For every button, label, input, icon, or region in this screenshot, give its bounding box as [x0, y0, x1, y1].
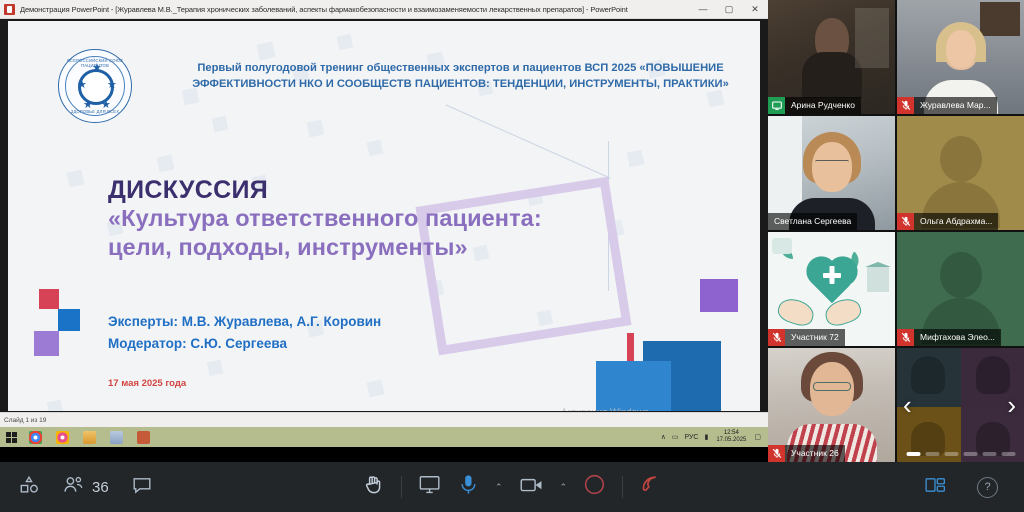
background-shelf: [855, 8, 889, 68]
participant-face: [812, 142, 852, 192]
building-icon: [867, 266, 889, 292]
grid-page-indicator[interactable]: [906, 452, 1015, 456]
slide-header-line-1: Первый полугодовой тренинг общественных …: [188, 61, 733, 77]
participants-button[interactable]: 36: [62, 474, 109, 501]
screen-share-icon: [768, 97, 785, 114]
clock-time: 12:54: [716, 430, 746, 438]
slide-people-block: Эксперты: М.В. Журавлева, А.Г. Коровин М…: [108, 311, 558, 354]
medical-cross-icon: [823, 273, 841, 278]
window-title: Демонстрация PowerPoint - [Журавлева М.В…: [20, 5, 690, 14]
app-icon[interactable]: [83, 431, 96, 444]
participant-namebar: Ольга Абдрахма...: [897, 213, 998, 230]
participant-face-front: [946, 30, 976, 68]
reactions-button[interactable]: [18, 474, 40, 501]
decor-chip: [47, 400, 64, 411]
participant-name: Ольга Абдрахма...: [914, 213, 998, 230]
layout-view-button[interactable]: [924, 475, 947, 500]
shared-screen-area: Демонстрация PowerPoint - [Журавлева М.В…: [0, 0, 768, 462]
avatar-head: [911, 422, 945, 456]
participant-tile[interactable]: Ольга Абдрахма...: [897, 116, 1024, 230]
app-icon-2[interactable]: [110, 431, 123, 444]
participant-name: Мифтахова Элео...: [914, 329, 1001, 346]
logo-star-icon: ★: [107, 80, 117, 91]
participant-namebar: Арина Рудченко: [768, 97, 861, 114]
decor-chip: [307, 120, 325, 138]
slide-date: 17 мая 2025 года: [108, 378, 186, 389]
meeting-control-bar: 36: [0, 462, 1024, 512]
chat-bubble-icon: [131, 474, 153, 501]
decor-square-purple: [34, 331, 59, 356]
close-button[interactable]: ✕: [742, 0, 768, 18]
decor-chip: [67, 170, 85, 188]
hangup-phone-icon: [639, 473, 662, 501]
slide-header-line-2: ЭФФЕКТИВНОСТИ НКО И СООБЩЕСТВ ПАЦИЕНТОВ:…: [188, 77, 733, 93]
volume-icon[interactable]: ▮: [704, 433, 708, 441]
page-dot[interactable]: [925, 452, 939, 456]
logo-star-icon: ★: [92, 63, 102, 74]
avatar-head: [976, 356, 1010, 394]
participant-name: Журавлева Мар...: [914, 97, 997, 114]
powerpoint-status-bar: Слайд 1 из 19: [0, 412, 768, 427]
meeting-screen: Демонстрация PowerPoint - [Журавлева М.В…: [0, 0, 1024, 512]
decor-chip: [207, 360, 224, 377]
slide-moderator: Модератор: С.Ю. Сергеева: [108, 333, 558, 355]
decor-line: [446, 104, 611, 178]
windows-activation-watermark: Активация Windows Чтобы активировать Win…: [561, 406, 760, 411]
mic-muted-icon: [897, 213, 914, 230]
participant-namebar: Участник 26: [768, 445, 845, 462]
avatar-head: [940, 252, 982, 298]
participant-shoulders: [802, 52, 862, 98]
decor-chip: [212, 116, 229, 133]
network-icon[interactable]: ▭: [672, 433, 679, 441]
decor-chip: [157, 155, 175, 173]
microphone-icon: [458, 473, 479, 501]
slide-title-sub-line2: цели, подходы, инструменты»: [108, 233, 578, 262]
share-screen-button[interactable]: [418, 473, 442, 501]
page-dot[interactable]: [963, 452, 977, 456]
organization-logo: ВСЕРОССИЙСКИЙ СОЮЗ ПАЦИЕНТОВ ★ ★ ★ ★ ★ З…: [58, 49, 132, 123]
background-object: [980, 2, 1020, 36]
decor-chip: [257, 42, 276, 61]
help-button[interactable]: ?: [977, 477, 998, 498]
watermark-line-1: Активация Windows: [561, 406, 760, 411]
decor-chip: [367, 380, 385, 398]
avatar-head: [911, 356, 945, 394]
card-icon: [772, 238, 792, 254]
clock-date: 17.05.2025: [716, 437, 746, 445]
slide-frame: ВСЕРОССИЙСКИЙ СОЮЗ ПАЦИЕНТОВ ★ ★ ★ ★ ★ З…: [0, 19, 768, 412]
control-bar-left: 36: [0, 474, 153, 501]
shapes-reactions-icon: [18, 474, 40, 501]
logo-text-bottom: ЗДОРОВЬЕ ДЛЯ ВСЕХ: [59, 109, 131, 114]
microphone-button[interactable]: [458, 473, 479, 501]
screen-letterbox: [0, 447, 768, 462]
avatar-head: [940, 136, 982, 182]
participant-tile[interactable]: Участник 26: [768, 348, 895, 462]
decor-chip: [367, 140, 384, 157]
raise-hand-button[interactable]: [362, 473, 385, 501]
mic-muted-icon: [897, 329, 914, 346]
decor-square-purple-right: [700, 279, 738, 312]
page-dot[interactable]: [944, 452, 958, 456]
participant-pager-tile[interactable]: ‹ ›: [897, 348, 1024, 462]
system-tray: ∧ ▭ РУС ▮ 12:54 17.05.2025 ▢: [658, 427, 768, 447]
powerpoint-window: Демонстрация PowerPoint - [Журавлева М.В…: [0, 0, 768, 427]
camera-button[interactable]: [519, 474, 544, 501]
slide-header: Первый полугодовой тренинг общественных …: [188, 61, 733, 93]
taskbar-clock[interactable]: 12:54 17.05.2025: [716, 430, 746, 445]
minimize-button[interactable]: —: [690, 0, 716, 18]
mic-muted-icon: [768, 329, 785, 346]
powerpoint-titlebar[interactable]: Демонстрация PowerPoint - [Журавлева М.В…: [0, 0, 768, 19]
participant-name: Участник 26: [785, 445, 845, 462]
participant-tile[interactable]: Журавлева Мар...: [897, 0, 1024, 114]
participant-namebar: Мифтахова Элео...: [897, 329, 1001, 346]
participant-name: Арина Рудченко: [785, 97, 861, 114]
powerpoint-icon: [4, 4, 15, 15]
decor-square-red: [39, 289, 59, 309]
participant-namebar: Участник 72: [768, 329, 845, 346]
participant-glasses: [813, 382, 851, 391]
record-button[interactable]: [583, 473, 606, 501]
presentation-slide: ВСЕРОССИЙСКИЙ СОЮЗ ПАЦИЕНТОВ ★ ★ ★ ★ ★ З…: [8, 21, 760, 411]
notification-icon[interactable]: ▢: [754, 433, 761, 441]
participants-count: 36: [92, 479, 109, 496]
decor-chip: [627, 150, 645, 168]
grid-prev-page-button[interactable]: ‹: [903, 392, 912, 418]
control-divider: [622, 476, 623, 498]
participant-tile[interactable]: Светлана Сергеева: [768, 116, 895, 230]
slide-experts: Эксперты: М.В. Журавлева, А.Г. Коровин: [108, 311, 558, 333]
participant-namebar: Журавлева Мар...: [897, 97, 997, 114]
screen-share-icon: [418, 473, 442, 501]
camera-options-chevron-up-icon[interactable]: ⌃: [560, 482, 568, 493]
participant-tile[interactable]: Арина Рудченко: [768, 0, 895, 114]
participant-name: Участник 72: [785, 329, 845, 346]
windows-start-icon[interactable]: [0, 427, 22, 447]
control-bar-right: ?: [924, 475, 1024, 500]
page-dot[interactable]: [906, 452, 920, 456]
participant-grid: Арина Рудченко Журавлева Мар...: [768, 0, 1024, 462]
language-indicator[interactable]: РУС: [684, 434, 698, 441]
decor-square-blue: [58, 309, 80, 331]
logo-star-icon: ★: [77, 80, 87, 91]
chrome-icon[interactable]: [29, 431, 42, 444]
mic-muted-icon: [768, 445, 785, 462]
raise-hand-icon: [362, 473, 385, 501]
powerpoint-taskbar-icon[interactable]: [137, 431, 150, 444]
hangup-button[interactable]: [639, 473, 662, 501]
decor-square-blue-mid: [596, 361, 671, 411]
control-divider: [401, 476, 402, 498]
participant-tile[interactable]: Участник 72: [768, 232, 895, 346]
slide-title-sub-line1: «Культура ответственного пациента:: [108, 204, 578, 233]
participant-tile[interactable]: Мифтахова Элео...: [897, 232, 1024, 346]
grid-next-page-button[interactable]: ›: [1007, 392, 1016, 418]
page-dot[interactable]: [982, 452, 996, 456]
slide-title-main: ДИСКУССИЯ: [108, 176, 578, 204]
participant-name: Светлана Сергеева: [768, 213, 857, 230]
mic-muted-icon: [897, 97, 914, 114]
chrome-canary-icon[interactable]: [56, 431, 69, 444]
record-circle-icon: [583, 473, 606, 501]
layout-view-icon: [924, 475, 947, 500]
participant-glasses: [815, 160, 849, 167]
control-bar-center: ⌃ ⌃: [362, 473, 662, 501]
camera-icon: [519, 474, 544, 501]
chat-button[interactable]: [131, 474, 153, 501]
participants-icon: [62, 474, 85, 501]
avatar-head: [976, 422, 1010, 456]
slide-title-block: ДИСКУССИЯ «Культура ответственного пацие…: [108, 176, 578, 261]
participant-namebar: Светлана Сергеева: [768, 213, 857, 230]
show-hidden-icons-icon[interactable]: ∧: [661, 433, 666, 441]
windows-taskbar[interactable]: ∧ ▭ РУС ▮ 12:54 17.05.2025 ▢: [0, 427, 768, 447]
maximize-button[interactable]: ▢: [716, 0, 742, 18]
decor-chip: [337, 34, 354, 51]
slide-counter: Слайд 1 из 19: [4, 417, 46, 424]
mic-options-chevron-up-icon[interactable]: ⌃: [495, 482, 503, 493]
page-dot[interactable]: [1001, 452, 1015, 456]
